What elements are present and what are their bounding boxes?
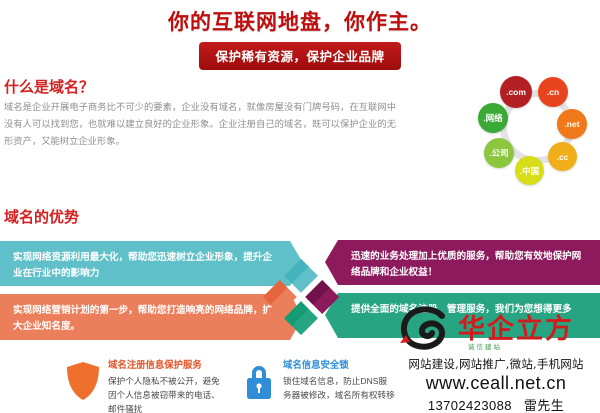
hero-subtitle-badge: 保护稀有资源，保护企业品牌 [199,42,400,70]
hero-banner: 你的互联网地盘，你作主。 保护稀有资源，保护企业品牌 [0,0,600,72]
contact-phone-person: 13702423088 雷先生 [392,395,600,413]
section-heading-advantages: 域名的优势 [4,206,79,227]
domain-bubble-net[interactable]: .net [557,109,587,139]
section-body-what-is-domain: 域名是企业开展电子商务比不可少的要素，企业没有域名，就像房屋没有门牌号码，在互联… [4,99,396,150]
advantage-box-service: 迅速的业务处理加上优质的服务，帮助您有效地保护网络品牌和企业权益！ [338,240,600,285]
domain-bubble-中国[interactable]: .中国 [515,156,544,185]
section-heading-what-is-domain: 什么是域名？ [4,76,94,97]
contact-website[interactable]: www.ceall.net.cn [392,373,600,394]
domain-bubble-com[interactable]: .com [500,76,532,108]
diamond-svg [262,258,340,336]
feature-title: 域名信息安全锁 [283,357,395,371]
feature-domain-lock: 域名信息安全锁 锁住域名信息，防止DNS服务器被修改，域名所有权转移 [283,357,395,402]
domain-bubble-网络[interactable]: .网络 [478,103,508,133]
page-title: 你的互联网地盘，你作主。 [0,6,600,36]
domain-bubble-cn[interactable]: .cn [538,77,568,107]
contact-services: 网站建设,网站推广,微站,手机网站 [392,356,600,372]
feature-privacy-protection: 域名注册信息保护服务 保护个人隐私不被公开，避免因个人信息被窃带来的电话、邮件骚… [108,357,228,413]
lock-icon [243,361,275,401]
advantage-box-resource: 实现网络资源利用最大化，帮助您迅速树立企业形象，提升企业在行业中的影响力 [0,241,290,286]
promo-page: 你的互联网地盘，你作主。 保护稀有资源，保护企业品牌 什么是域名？ 域名是企业开… [0,0,600,413]
central-diamond-graphic [262,258,340,336]
contact-block: 网站建设,网站推广,微站,手机网站 www.ceall.net.cn 13702… [392,356,600,413]
logo-tagline: 诚信建站 [468,341,502,351]
feature-body: 锁住域名信息，防止DNS服务器被修改，域名所有权转移 [283,374,395,402]
huaqilifang-logo: 华企立方 诚信建站 [396,303,600,355]
hero-subtitle-wrap: 保护稀有资源，保护企业品牌 [0,42,600,70]
feature-body: 保护个人隐私不被公开，避免因个人信息被窃带来的电话、邮件骚扰 [108,374,228,413]
logo-swirl-icon [396,305,456,353]
contact-phone: 13702423088 [428,398,512,413]
domain-bubble-公司[interactable]: .公司 [484,138,514,168]
domain-extension-wheel: .com.cn.net.cc.中国.公司.网络 [478,70,596,192]
advantage-box-marketing: 实现网络营销计划的第一步，帮助您打造响亮的网络品牌，扩大企业知名度。 [0,294,290,340]
contact-person: 雷先生 [524,398,564,413]
shield-icon [66,361,100,401]
feature-title: 域名注册信息保护服务 [108,357,228,371]
domain-bubble-cc[interactable]: .cc [548,142,577,171]
